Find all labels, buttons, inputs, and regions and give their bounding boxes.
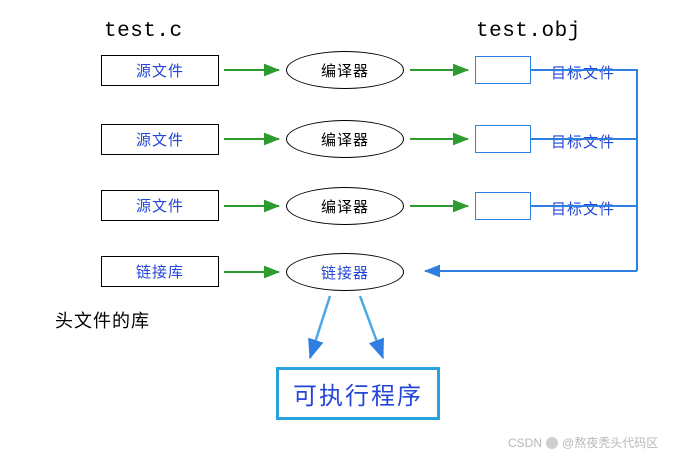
green-arrow-to-object-group bbox=[410, 70, 468, 206]
watermark: CSDN @熬夜秃头代码区 bbox=[508, 434, 658, 451]
connector-arrows bbox=[0, 0, 676, 461]
linker-to-executable-arrows bbox=[310, 296, 383, 358]
watermark-brand: CSDN bbox=[508, 436, 542, 450]
watermark-user: @熬夜秃头代码区 bbox=[562, 434, 658, 451]
object-bus-lines bbox=[531, 70, 637, 271]
green-arrow-group bbox=[224, 70, 279, 272]
compilation-linking-diagram: test.c test.obj 源文件 编译器 目标文件 源文件 编译器 目标文… bbox=[0, 0, 676, 461]
watermark-avatar-icon bbox=[546, 437, 558, 449]
